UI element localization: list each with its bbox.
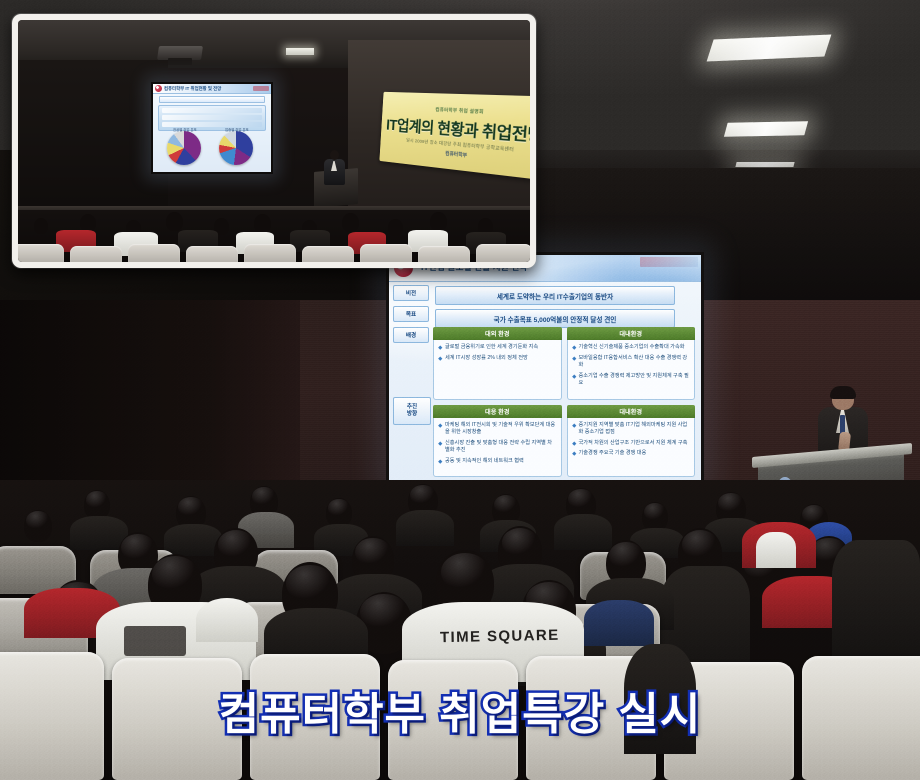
pie-chart-2-label: 업종별 취업 분포 — [225, 127, 249, 132]
slide-bullet: 세계 IT시장 성장률 2% 내외 정체 전망 — [439, 355, 557, 363]
audience-torso-white — [756, 532, 796, 568]
inset-ceiling-light — [286, 48, 314, 55]
side-tab-vision: 비전 — [393, 285, 429, 301]
inset-slide-subtitle-bar — [159, 96, 265, 103]
slide-cell-header: 대외 환경 — [433, 327, 562, 340]
audience-torso — [396, 510, 454, 546]
inset-slide: 컴퓨터학부 IT 취업현황 및 전망 전공별 취업 분포 업종별 취업 분포 — [153, 84, 271, 172]
inset-seat — [360, 244, 412, 262]
projection-screen: IT산업 글로벌 진출 지원 전략 세계로 도약하는 우리 IT수출기업의 동반… — [386, 252, 704, 484]
presenter-hair — [830, 386, 856, 399]
slide-bullet: 신흥시장 진출 및 맞춤형 대응 전략 수립 지역별 차별화 추진 — [439, 440, 557, 455]
projector-lens — [168, 58, 192, 65]
hoodie-graphic — [124, 626, 186, 656]
side-tab-direction-line1: 추진 — [407, 404, 417, 411]
inset-seat — [128, 244, 180, 262]
audience-torso — [832, 540, 920, 660]
ceiling-light-panel-2 — [724, 121, 808, 136]
inset-left-wall — [18, 60, 168, 220]
inset-slide-header: 컴퓨터학부 IT 취업현황 및 전망 — [153, 84, 271, 94]
pie-chart-2 — [219, 131, 253, 165]
inset-seat — [18, 244, 64, 262]
slide-cell: 대응 환경 마케팅 해외 IT전시회 및 기술적 우위 확보단계 대응을 위한 … — [433, 405, 562, 478]
slide-goal-bar: 국가 수출목표 5,000억불의 안정적 달성 견인 — [435, 309, 675, 328]
inset-slide-charts: 전공별 취업 분포 업종별 취업 분포 — [153, 127, 271, 171]
inset-seat — [302, 246, 354, 262]
event-banner-top-line: 컴퓨터학부 취업 설명회 — [435, 106, 484, 115]
inset-photo: 컴퓨터학부 IT 취업현황 및 전망 전공별 취업 분포 업종별 취업 분포 — [18, 20, 530, 262]
slide-bullet: 중기지원 지역별 맞춤 IT기업 해외마케팅 지원 사업화 중소기업 접점 — [573, 422, 691, 437]
slide-cell-header: 대내환경 — [567, 327, 696, 340]
inset-slide-table-row — [162, 108, 262, 113]
inset-seat — [186, 246, 238, 262]
side-tab-goal: 목표 — [393, 306, 429, 322]
slide-cell-body: 중기지원 지역별 맞춤 IT기업 해외마케팅 지원 사업화 중소기업 접점 국가… — [567, 418, 696, 478]
slide-bullet: 기술경쟁 주요국 기술 경쟁 대응 — [573, 450, 691, 458]
inset-audience-head — [342, 213, 359, 232]
event-banner-org-line: 컴퓨터학부 — [445, 149, 467, 158]
slide-cell: 대내환경 기술혁신 신기술제품 중소기업의 수출확대 가속화 모바일융합 IT융… — [567, 327, 696, 400]
inset-slide-logo-icon — [155, 85, 162, 92]
side-tab-background: 배경 — [393, 327, 429, 343]
slide-cell-body: 기술혁신 신기술제품 중소기업의 수출확대 가속화 모바일융합 IT융합서비스 … — [567, 340, 696, 400]
inset-photo-frame: 컴퓨터학부 IT 취업현황 및 전망 전공별 취업 분포 업종별 취업 분포 — [12, 14, 536, 268]
slide-bullet: 글로벌 금융위기로 인한 세계 경기둔화 지속 — [439, 344, 557, 352]
inset-slide-title: 컴퓨터학부 IT 취업현황 및 전망 — [164, 86, 221, 92]
slide-bullet: 모바일융합 IT융합서비스 확산 대응 수출 경쟁력 강화 — [573, 355, 691, 370]
audience-torso — [584, 600, 654, 646]
inset-audience-head — [388, 219, 403, 236]
inset-audience-area — [18, 210, 530, 262]
inset-presenter-head — [330, 150, 339, 160]
inset-seat — [476, 244, 530, 262]
pie-chart-1 — [167, 131, 201, 165]
inset-seat — [418, 246, 470, 262]
hoodie-hood — [196, 598, 258, 642]
inset-slide-table-row — [162, 115, 262, 120]
slide-bullet: 중소기업 수출 경쟁력 제고방안 및 지원체계 구축 필요 — [573, 373, 691, 388]
slide-cell-body: 마케팅 해외 IT전시회 및 기술적 우위 확보단계 대응을 위한 시장창출 신… — [433, 418, 562, 478]
slide-cell: 대내환경 중기지원 지역별 맞춤 IT기업 해외마케팅 지원 사업화 중소기업 … — [567, 405, 696, 478]
inset-seat — [70, 246, 122, 262]
slide-cell-body: 글로벌 금융위기로 인한 세계 경기둔화 지속 세계 IT시장 성장률 2% 내… — [433, 340, 562, 400]
slide-content-grid: 대외 환경 글로벌 금융위기로 인한 세계 경기둔화 지속 세계 IT시장 성장… — [433, 327, 695, 477]
inset-projection-screen: 컴퓨터학부 IT 취업현황 및 전망 전공별 취업 분포 업종별 취업 분포 — [151, 82, 273, 174]
inset-audience-head — [254, 214, 271, 233]
slide-cell: 대외 환경 글로벌 금융위기로 인한 세계 경기둔화 지속 세계 IT시장 성장… — [433, 327, 562, 400]
slide-bullet: 공동 및 지속적인 해외 네트워크 협력 — [439, 458, 557, 466]
inset-audience-head — [430, 212, 447, 231]
inset-seat — [244, 244, 296, 262]
slide-bullet: 기술혁신 신기술제품 중소기업의 수출확대 가속화 — [573, 344, 691, 352]
slide-vision-bar: 세계로 도약하는 우리 IT수출기업의 동반자 — [435, 286, 675, 305]
slide-cell-header: 대응 환경 — [433, 405, 562, 418]
tshirt-text: TIME SQUARE — [440, 627, 560, 647]
ceiling-light-panel-3 — [735, 162, 794, 167]
audience-head — [24, 510, 52, 542]
side-tab-direction-line2: 방향 — [407, 411, 417, 418]
slide-brand-mark — [640, 257, 698, 267]
screenshot-root: IT산업 글로벌 진출 지원 전략 세계로 도약하는 우리 IT수출기업의 동반… — [0, 0, 920, 780]
inset-audience-head — [34, 218, 48, 234]
inset-slide-brand-mark — [253, 86, 269, 91]
audience-torso — [554, 514, 612, 550]
slide-side-tabs: 비전 목표 배경 — [393, 285, 429, 343]
slide-bullet: 국가적 차원의 산업구조 기반으로서 지원 체계 구축 — [573, 440, 691, 448]
inset-audience-head — [166, 212, 183, 231]
caption-overlay: 컴퓨터학부 취업특강 실시 — [0, 678, 920, 742]
slide-cell-header: 대내환경 — [567, 405, 696, 418]
slide-bullet: 마케팅 해외 IT전시회 및 기술적 우위 확보단계 대응을 위한 시장창출 — [439, 422, 557, 437]
side-tab-direction: 추진 방향 — [393, 397, 431, 425]
presentation-slide: IT산업 글로벌 진출 지원 전략 세계로 도약하는 우리 IT수출기업의 동반… — [389, 255, 701, 481]
pie-chart-1-label: 전공별 취업 분포 — [173, 127, 197, 132]
